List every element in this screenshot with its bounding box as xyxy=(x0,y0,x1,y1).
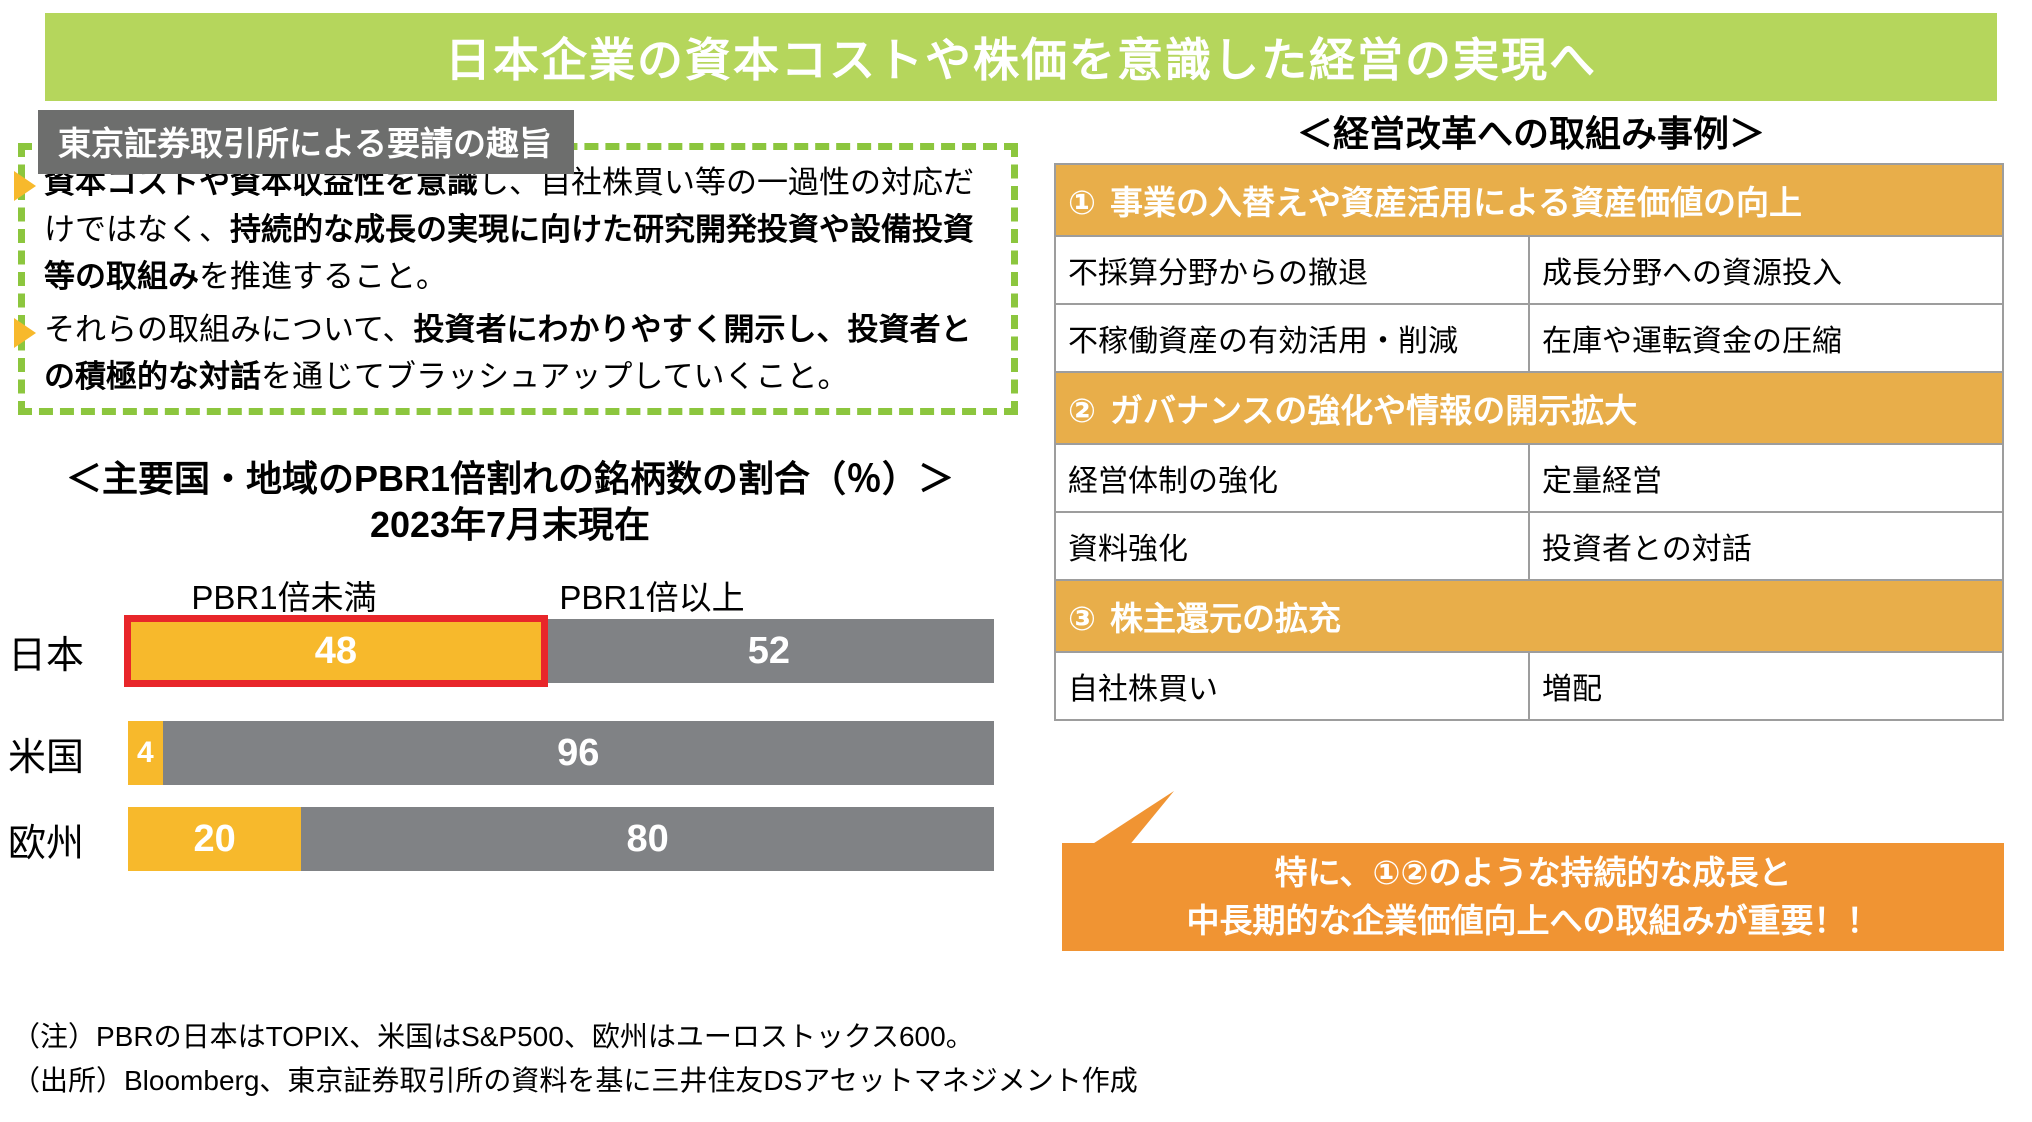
table-section-row: ②ガバナンスの強化や情報の開示拡大 xyxy=(1055,372,2003,444)
section-heading-text: ガバナンスの強化や情報の開示拡大 xyxy=(1110,392,1637,429)
bar-row: 欧州2080 xyxy=(0,807,1020,871)
bar-segment: 52 xyxy=(544,619,994,683)
table-section-row: ③株主還元の拡充 xyxy=(1055,580,2003,652)
section-heading-text: 株主還元の拡充 xyxy=(1110,600,1341,637)
page-title: 日本企業の資本コストや株価を意識した経営の実現へ xyxy=(445,24,1597,90)
bar-value-label: 20 xyxy=(193,818,235,861)
section-number: ③ xyxy=(1068,600,1096,637)
list-item: 資本コストや資本収益性を意識し、自社株買い等の一過性の対応だけではなく、持続的な… xyxy=(14,159,974,300)
section-heading-cell: ③株主還元の拡充 xyxy=(1055,580,2003,652)
bullet-text-1: 資本コストや資本収益性を意識し、自社株買い等の一過性の対応だけではなく、持続的な… xyxy=(44,159,974,300)
table-cell: 経営体制の強化 xyxy=(1055,444,1529,512)
footnote-source: （出所）Bloomberg、東京証券取引所の資料を基に三井住友DSアセットマネジ… xyxy=(12,1059,1712,1103)
text-run: を推進すること。 xyxy=(199,259,447,294)
section-heading-cell: ②ガバナンスの強化や情報の開示拡大 xyxy=(1055,372,2003,444)
bar-segment: 48 xyxy=(128,619,544,683)
pbr-bar-chart: PBR1倍未満 PBR1倍以上 日本4852米国496欧州2080 xyxy=(0,571,1020,871)
bar-value-label: 96 xyxy=(557,732,599,775)
table-cell: 定量経営 xyxy=(1529,444,2003,512)
slide-title-bar: 日本企業の資本コストや株価を意識した経営の実現へ xyxy=(45,13,1997,101)
table-cell: 投資者との対話 xyxy=(1529,512,2003,580)
examples-table: ①事業の入替えや資産活用による資産価値の向上不採算分野からの撤退成長分野への資源… xyxy=(1054,163,2004,721)
table-cell: 資料強化 xyxy=(1055,512,1529,580)
footnote-note: （注）PBRの日本はTOPIX、米国はS&P500、欧州はユーロストックス600… xyxy=(12,1015,1712,1059)
table-cell: 在庫や運転資金の圧縮 xyxy=(1529,304,2003,372)
callout-text: 特に、①②のような持続的な成長と 中長期的な企業価値向上への取組みが重要！！ xyxy=(1187,849,1880,945)
table-cell: 増配 xyxy=(1529,652,2003,720)
tse-section-label: 東京証券取引所による要請の趣旨 xyxy=(38,110,574,174)
triangle-bullet-icon xyxy=(14,318,36,348)
bar-row: 米国496 xyxy=(0,721,1020,785)
bar-segment: 96 xyxy=(163,721,994,785)
right-column: ＜経営改革への取組み事例＞ ①事業の入替えや資産活用による資産価値の向上不採算分… xyxy=(1030,101,2032,1001)
text-run: それらの取組みについて、 xyxy=(44,312,414,347)
triangle-bullet-icon xyxy=(14,171,36,201)
bar-row: 日本4852 xyxy=(0,619,1020,683)
table-cell: 自社株買い xyxy=(1055,652,1529,720)
table-cell: 不採算分野からの撤退 xyxy=(1055,236,1529,304)
callout-line-1: 特に、①②のような持続的な成長と xyxy=(1187,849,1880,897)
left-column: 東京証券取引所による要請の趣旨 資本コストや資本収益性を意識し、自社株買い等の一… xyxy=(0,101,1020,1001)
table-cell: 不稼働資産の有効活用・削減 xyxy=(1055,304,1529,372)
section-heading-cell: ①事業の入替えや資産活用による資産価値の向上 xyxy=(1055,164,2003,236)
bar-track: 2080 xyxy=(128,807,994,871)
bar-value-label: 80 xyxy=(626,818,668,861)
section-number: ① xyxy=(1068,184,1096,221)
table-cell: 成長分野への資源投入 xyxy=(1529,236,2003,304)
callout-box: 特に、①②のような持続的な成長と 中長期的な企業価値向上への取組みが重要！！ xyxy=(1062,843,2004,951)
legend-under: PBR1倍未満 xyxy=(128,571,440,619)
bar-segment: 4 xyxy=(128,721,163,785)
list-item: それらの取組みについて、投資者にわかりやすく開示し、投資者との積極的な対話を通じ… xyxy=(14,306,974,400)
bar-category-label: 米国 xyxy=(8,721,118,785)
chart-subtitle: 2023年7月末現在 xyxy=(0,502,1020,548)
table-row: 自社株買い増配 xyxy=(1055,652,2003,720)
bar-category-label: 欧州 xyxy=(8,807,118,871)
bar-segment: 80 xyxy=(301,807,994,871)
examples-title: ＜経営改革への取組み事例＞ xyxy=(1030,105,2032,157)
bar-track: 4852 xyxy=(128,619,994,683)
table-row: 資料強化投資者との対話 xyxy=(1055,512,2003,580)
table-section-row: ①事業の入替えや資産活用による資産価値の向上 xyxy=(1055,164,2003,236)
callout-line-2: 中長期的な企業価値向上への取組みが重要！！ xyxy=(1187,897,1880,945)
text-run: を通じてブラッシュアップしていくこと。 xyxy=(261,359,848,394)
table-row: 経営体制の強化定量経営 xyxy=(1055,444,2003,512)
footnotes: （注）PBRの日本はTOPIX、米国はS&P500、欧州はユーロストックス600… xyxy=(12,1015,1712,1103)
legend-over: PBR1倍以上 xyxy=(440,571,864,619)
table-row: 不稼働資産の有効活用・削減在庫や運転資金の圧縮 xyxy=(1055,304,2003,372)
bullet-text-2: それらの取組みについて、投資者にわかりやすく開示し、投資者との積極的な対話を通じ… xyxy=(44,306,974,400)
callout-tail-icon xyxy=(1088,791,1178,847)
bar-segment: 20 xyxy=(128,807,301,871)
bar-value-label: 4 xyxy=(137,736,154,770)
bar-value-label: 52 xyxy=(748,630,790,673)
bar-track: 496 xyxy=(128,721,994,785)
bar-category-label: 日本 xyxy=(8,619,118,683)
section-heading-text: 事業の入替えや資産活用による資産価値の向上 xyxy=(1110,184,1802,221)
section-number: ② xyxy=(1068,392,1096,429)
chart-title-block: ＜主要国・地域のPBR1倍割れの銘柄数の割合（％）＞ 2023年7月末現在 xyxy=(0,456,1020,548)
table-row: 不採算分野からの撤退成長分野への資源投入 xyxy=(1055,236,2003,304)
bar-value-label: 48 xyxy=(315,630,357,673)
chart-title: ＜主要国・地域のPBR1倍割れの銘柄数の割合（％）＞ xyxy=(0,456,1020,502)
